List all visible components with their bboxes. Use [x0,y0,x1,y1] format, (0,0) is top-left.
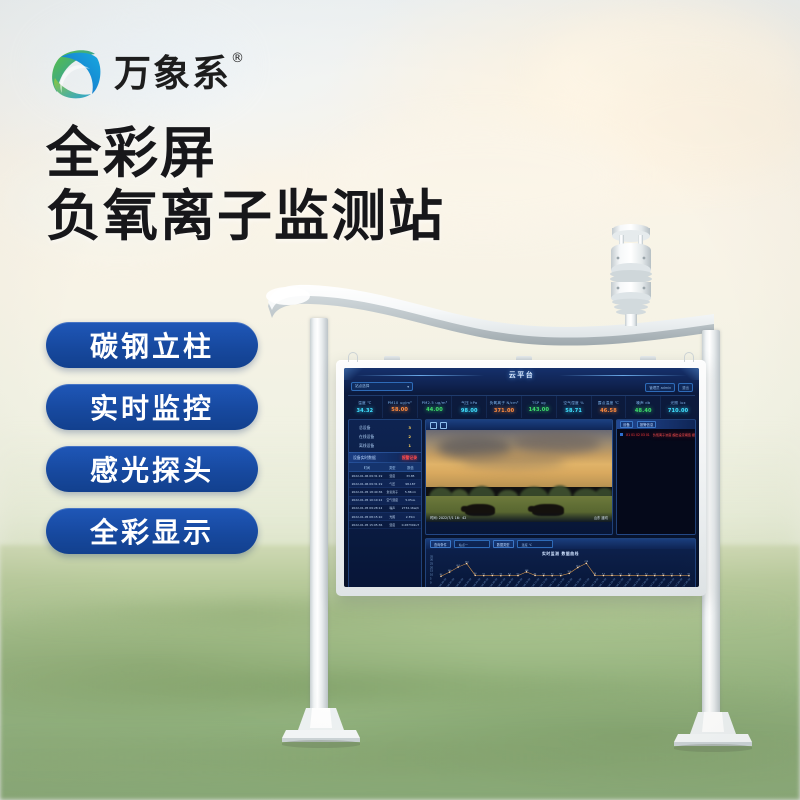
metric-1: 温度 ℃34.32 [348,396,383,418]
metric-value: 46.58 [600,408,617,414]
table-cell: 2022-01-06 09:31:19 [349,480,385,488]
chart-point-label: 9.2 [542,573,545,575]
chart-point-label: 9.2 [517,573,520,575]
chart-point-label: 9.0 [551,573,554,575]
metric-value: 98.00 [461,408,478,414]
device-stat-label: 离线设备 [359,443,374,449]
station-select[interactable]: 站点选择 ▾ [351,382,413,391]
brand-name: 万象系 ® [114,55,231,92]
metric-value: 44.00 [426,407,443,413]
alarm-panel-header: 设备报警信息 [617,420,695,429]
table-row[interactable]: 2022-01-05 18:40:36负氧离子5.38nm [349,488,421,496]
chart-y-tick: 35 [430,555,433,558]
data-table: 时间类型数值 2022-01-06 09:31:19温度33.852022-01… [349,463,421,529]
alarm-header-chip: 报警信息 [637,421,657,428]
device-stat-label: 在线设备 [359,434,374,440]
metric-10: 光照 lux710.00 [661,396,695,418]
metric-9: 噪声 db48.40 [626,396,661,418]
table-cell: 0.287302uT [400,521,421,529]
video-panel[interactable]: 时间: 2022/7/1 16：42 山东 潍坊 [425,419,613,535]
left-column [310,318,328,738]
left-panel-header: 设备实时数据 报警记录 [349,452,421,463]
table-cell: 负氧离子 [385,488,400,496]
metric-value: 48.40 [635,408,652,414]
chart-point-label: 9.4 [628,573,631,575]
chart-point-label: 9.0 [500,573,503,575]
chart-y-tick: 5 [430,577,432,580]
table-cell: 2.35m [400,512,421,520]
alarm-text: 负氧离子浓度 超出设定阈值 报警 [653,432,696,437]
headline-line-1: 全彩屏 [46,122,445,185]
datatype-label: 数据类型 [493,540,514,548]
video-timestamp: 时间: 2022/7/1 16：42 [430,515,466,520]
mount-hook [348,352,358,362]
table-row[interactable]: 2022-01-05 10:10:12空气湿度5.05uL [349,496,421,504]
table-cell: 98.187 [400,480,421,488]
chart-point-label: 9.2 [653,573,656,575]
metric-2: PM10 ug/m³58.00 [383,396,418,418]
table-row[interactable]: 2022-01-06 09:31:19气压98.187 [349,480,421,488]
table-cell: 2022-01-05 10:10:12 [349,496,385,504]
feature-pill-4[interactable]: 全彩显示 [46,508,258,554]
video-feed[interactable]: 时间: 2022/7/1 16：42 山东 潍坊 [426,430,612,522]
device-data-panel: 总设备3在线设备2离线设备1 设备实时数据 报警记录 时间类型数值 2022-0… [348,419,422,587]
headline-line-2: 负氧离子监测站 [46,185,445,248]
metric-7: 空气湿度 %58.71 [557,396,592,418]
chart-y-axis: 05101520253035 [430,557,439,583]
chart-point-label: 9.1 [482,573,485,575]
table-cell: 2022-01-05 15:05:36 [349,521,385,529]
product-marketing-image: 云平台 站点选择 ▾ 管理员 admin 退出 温度 ℃34.32PM10 ug… [0,0,800,800]
chart-point-label: 14.8 [525,569,529,571]
metric-6: TSP ug143.00 [522,396,557,418]
led-display-cabinet: 云平台 站点选择 ▾ 管理员 admin 退出 温度 ℃34.32PM10 ug… [336,360,706,596]
video-overlay: 时间: 2022/7/1 16：42 山东 潍坊 [426,512,612,522]
device-stat-value: 2 [408,434,411,440]
logout-button[interactable]: 退出 [678,383,693,392]
mount-tab [384,356,400,360]
table-row[interactable]: 2022-01-05 15:05:36温度0.287302uT [349,521,421,529]
metric-8: 露点温度 ℃46.58 [592,396,627,418]
device-stat-row: 离线设备1 [355,443,415,449]
table-column-header: 时间 [349,463,385,472]
chart-point-label: 9.1 [688,573,691,575]
chart-y-tick: 0 [430,581,432,584]
device-filter-value[interactable]: 站点一 [454,540,490,548]
metric-label: PM10 ug/m³ [388,401,412,405]
ultrasonic-weather-sensor [600,218,662,326]
table-cell: 2022-01-06 09:31:19 [349,472,385,480]
chart-point-label: 9.4 [508,573,511,575]
metric-value: 58.71 [565,408,582,414]
metrics-row: 温度 ℃34.32PM10 ug/m³58.00PM2.5 ug/m³44.00… [348,395,695,418]
metric-value: 58.00 [391,407,408,413]
table-cell: 噪声 [385,504,400,512]
table-cell: 5.05uL [400,496,421,504]
alarm-row[interactable]: X1 01 02 03 01负氧离子浓度 超出设定阈值 报警 [620,432,692,437]
feature-pill-2[interactable]: 实时监控 [46,384,258,430]
alarm-header-chip: 设备 [620,421,633,428]
device-stat-value: 3 [408,425,411,431]
right-base-plate [674,712,752,752]
station-select-value: 站点选择 [355,384,369,389]
table-cell: 5.38nm [400,488,421,496]
feature-pill-1[interactable]: 碳钢立柱 [46,322,258,368]
chart-point-label: 9.8 [594,573,597,575]
chart-y-tick: 15 [430,570,433,573]
metric-5: 负氧离子 N/cm³371.00 [487,396,522,418]
metric-label: 气压 kPa [461,401,477,406]
metric-label: 露点温度 ℃ [598,401,619,406]
expand-icon[interactable] [430,422,437,429]
alarm-record-link[interactable]: 报警记录 [402,455,417,461]
query-button[interactable]: 查询条件 [430,540,451,548]
metric-label: 空气湿度 % [563,401,584,406]
metric-label: 噪声 db [636,401,650,406]
table-cell: 温度 [385,521,400,529]
chart-point-label: 9.3 [645,573,648,575]
device-stat-value: 1 [408,443,411,449]
chart-y-tick: 10 [430,574,433,577]
table-column-header: 数值 [400,463,421,472]
video-cloud [463,452,565,469]
metric-value: 710.00 [668,408,689,414]
dashboard-screen[interactable]: 云平台 站点选择 ▾ 管理员 admin 退出 温度 ℃34.32PM10 ug… [344,368,699,587]
device-stat-row: 在线设备2 [355,434,415,440]
chart-title: 实时监测 数据曲线 [426,549,695,557]
table-cell: 光照 [385,512,400,520]
datatype-filter-value[interactable]: 温度 ℃ [517,540,553,548]
chevron-down-icon: ▾ [407,385,409,389]
left-panel-title: 设备实时数据 [353,455,376,461]
metric-label: PM2.5 ug/m³ [422,401,448,405]
chart-point-label: 9.5 [611,573,614,575]
alarm-panel: 设备报警信息 X1 01 02 03 01负氧离子浓度 超出设定阈值 报警 [616,419,696,535]
account-area[interactable]: 管理员 admin 退出 [645,383,693,392]
metric-value: 371.00 [494,408,515,414]
table-row[interactable]: 2022-01-06 09:31:19温度33.85 [349,472,421,480]
account-label: 管理员 admin [645,383,675,392]
metric-3: PM2.5 ug/m³44.00 [418,396,453,418]
table-column-header: 类型 [385,463,400,472]
video-location: 山东 潍坊 [594,515,608,520]
brand-name-text: 万象系 [114,52,231,95]
alarm-code: X1 01 02 03 01 [626,433,650,437]
chart-point-label: 27.8 [585,561,589,563]
table-cell: 空气湿度 [385,496,400,504]
table-cell: 温度 [385,472,400,480]
chart-point-label: 14.5 [448,569,452,571]
chart-point-label: 9.1 [559,573,562,575]
mount-tab [516,356,532,360]
chart-y-tick: 25 [430,562,433,565]
registered-trademark-icon: ® [231,52,246,65]
table-cell: 2022-01-05 08:15:10 [349,512,385,520]
left-base-plate [282,708,360,748]
metric-value: 143.00 [529,407,550,413]
table-cell: 33.85 [400,472,421,480]
device-stats: 总设备3在线设备2离线设备1 [349,420,421,452]
globe-swirl-logo-icon [48,44,104,102]
chart-point-label: 9.6 [474,573,477,575]
metric-label: 负氧离子 N/cm³ [490,401,519,406]
chart-point-label: 9.0 [671,573,674,575]
chart-point-label: 12.6 [567,571,571,573]
chart-plot: 05101520253035 8.214.522.127.49.69.19.39… [430,557,691,588]
brand-logo: 万象系 ® [48,44,231,102]
metric-4: 气压 kPa98.00 [452,396,487,418]
headline: 全彩屏 负氧离子监测站 [46,122,445,249]
metric-label: 光照 lux [670,401,685,406]
video-treeline [426,474,612,498]
chart-point-label: 9.5 [534,573,537,575]
video-cloud [512,432,601,454]
metric-label: TSP ug [532,401,546,405]
chart-point-label: 21.4 [576,565,580,567]
feature-pill-list: 碳钢立柱实时监控感光探头全彩显示 [46,322,258,554]
alarm-bullet-icon [620,433,623,436]
chart-y-tick: 20 [430,566,433,569]
device-stat-row: 总设备3 [355,425,415,431]
metric-label: 温度 ℃ [358,401,372,406]
table-row[interactable]: 2022-01-05 08:15:10光照2.35m [349,512,421,520]
chart-point-label: 9.1 [636,573,639,575]
chart-toolbar[interactable]: 查询条件 站点一 数据类型 温度 ℃ [426,539,695,549]
device-stat-label: 总设备 [359,425,370,431]
table-cell: 2022-01-05 18:40:36 [349,488,385,496]
feature-pill-3[interactable]: 感光探头 [46,446,258,492]
metric-value: 34.32 [356,408,373,414]
table-cell: 气压 [385,480,400,488]
table-cell: 2732.16w/h [400,504,421,512]
chart-point-label: 9.2 [619,573,622,575]
chart-point-label: 9.3 [602,573,605,575]
camera-icon[interactable] [440,422,447,429]
chart-panel: 查询条件 站点一 数据类型 温度 ℃ 实时监测 数据曲线 05101520253… [425,538,696,587]
alarm-list: X1 01 02 03 01负氧离子浓度 超出设定阈值 报警 [617,429,695,534]
chart-point-label: 27.4 [465,561,469,563]
mount-tab [640,356,656,360]
chart-point-label: 22.1 [456,564,460,566]
chart-point-label: 9.5 [662,573,665,575]
chart-point-label: 9.3 [491,573,494,575]
chart-point-label: 8.2 [440,574,443,576]
chart-line-温度 ℃ [441,563,689,576]
video-toolbar[interactable] [426,420,612,430]
table-cell: 2022-01-05 09:28:12 [349,504,385,512]
chart-y-tick: 30 [430,559,433,562]
table-row[interactable]: 2022-01-05 09:28:12噪声2732.16w/h [349,504,421,512]
dashboard-title: 云平台 [344,370,699,380]
chart-x-axis: 01-06 00:0001-06 01:0001-06 02:0001-06 0… [439,583,691,588]
mount-hook [684,352,694,362]
chart-point-label: 9.2 [679,573,682,575]
